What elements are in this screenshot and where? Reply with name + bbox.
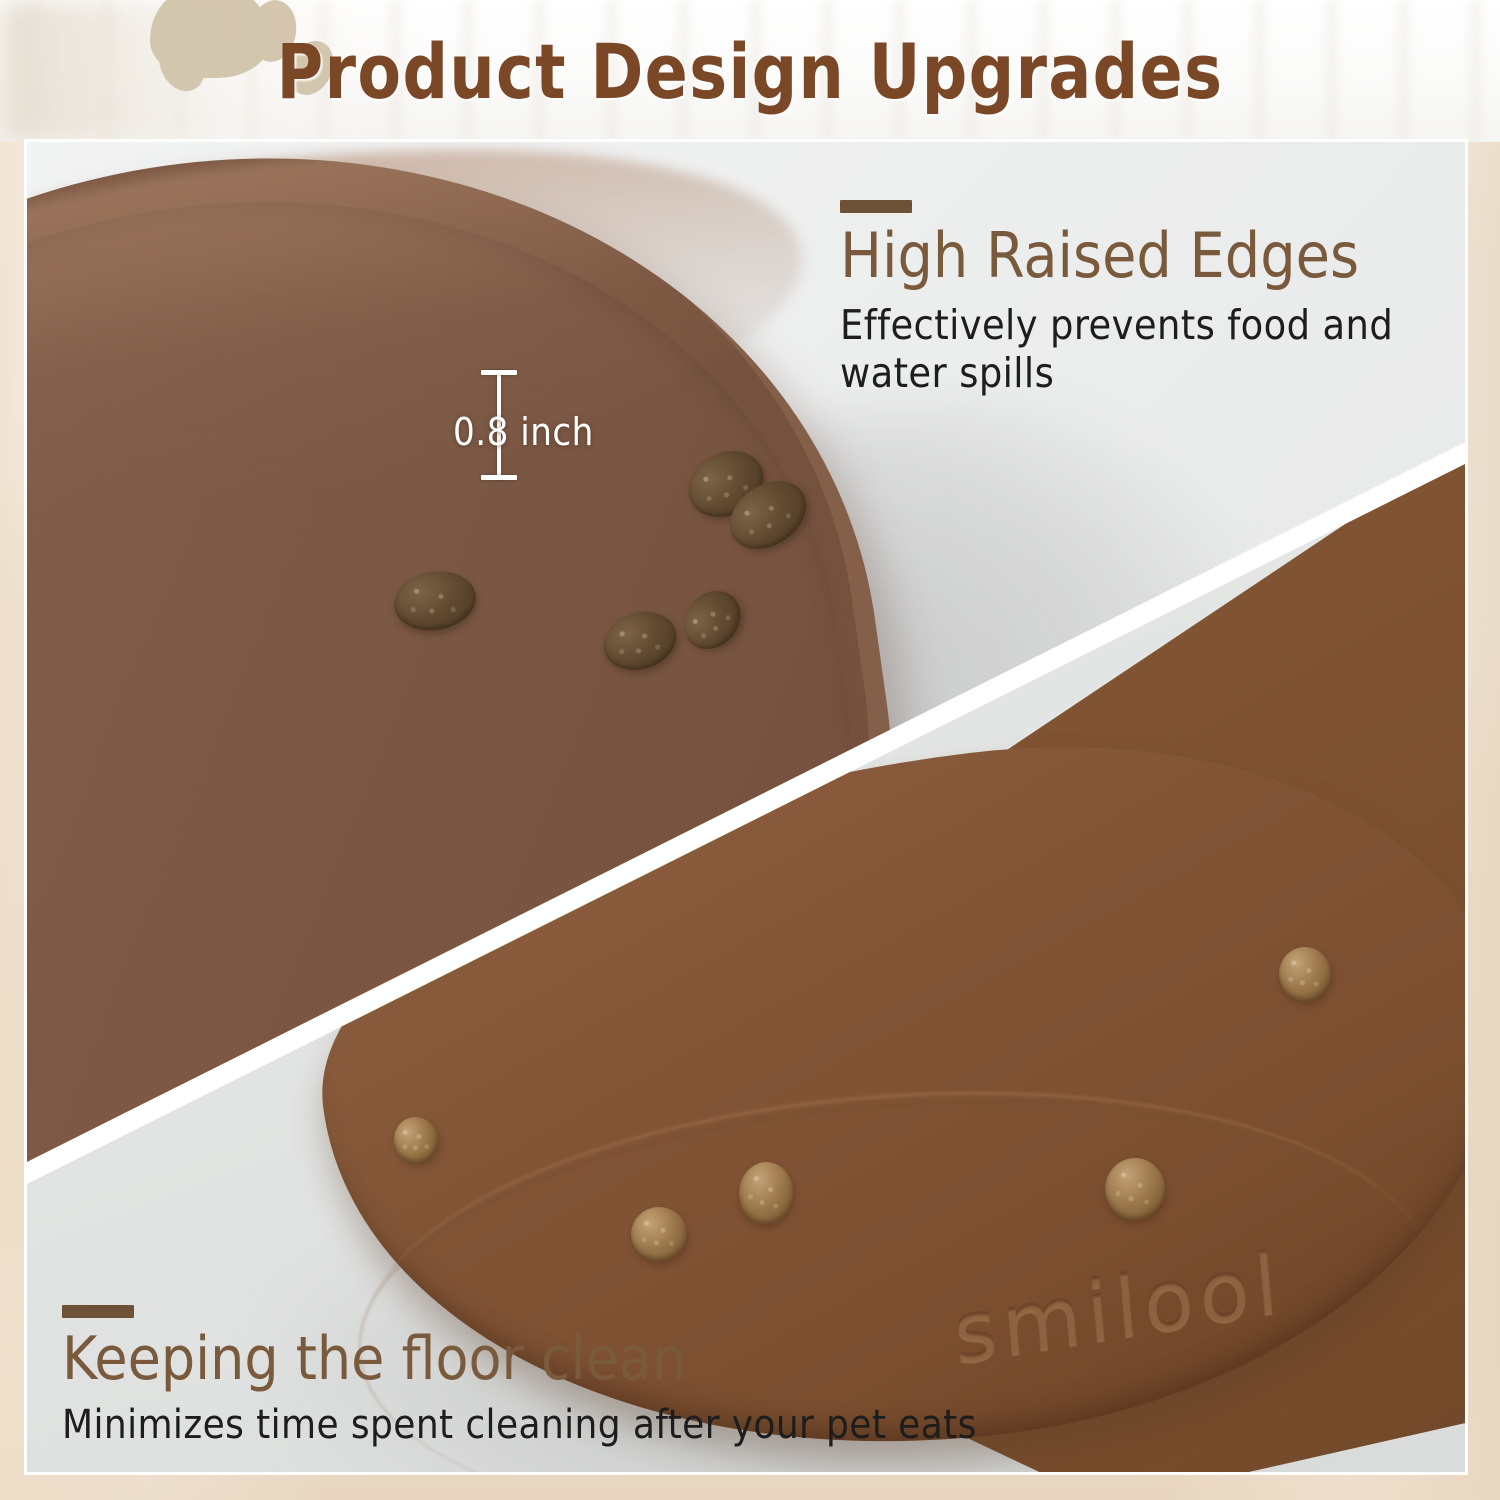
feature-callout-keeping-the-floor-clean: Keeping the floor clean Minimizes time s… xyxy=(62,1305,977,1449)
feature-title: Keeping the floor clean xyxy=(62,1328,977,1392)
feature-callout-high-raised-edges: High Raised Edges Effectively prevents f… xyxy=(840,200,1450,397)
feature-title: High Raised Edges xyxy=(840,223,1450,289)
dimension-label: 0.8 inch xyxy=(453,410,594,454)
feature-subtitle: Minimizes time spent cleaning after your… xyxy=(62,1402,977,1449)
feature-subtitle: Effectively prevents food and water spil… xyxy=(840,301,1450,398)
product-infographic-poster: Product Design Upgrades 0.8 inch xyxy=(0,0,1500,1500)
page-title: Product Design Upgrades xyxy=(53,0,1448,142)
poster-header: Product Design Upgrades xyxy=(0,0,1500,142)
feature-accent-dash xyxy=(62,1305,134,1318)
feature-accent-dash xyxy=(840,200,912,213)
